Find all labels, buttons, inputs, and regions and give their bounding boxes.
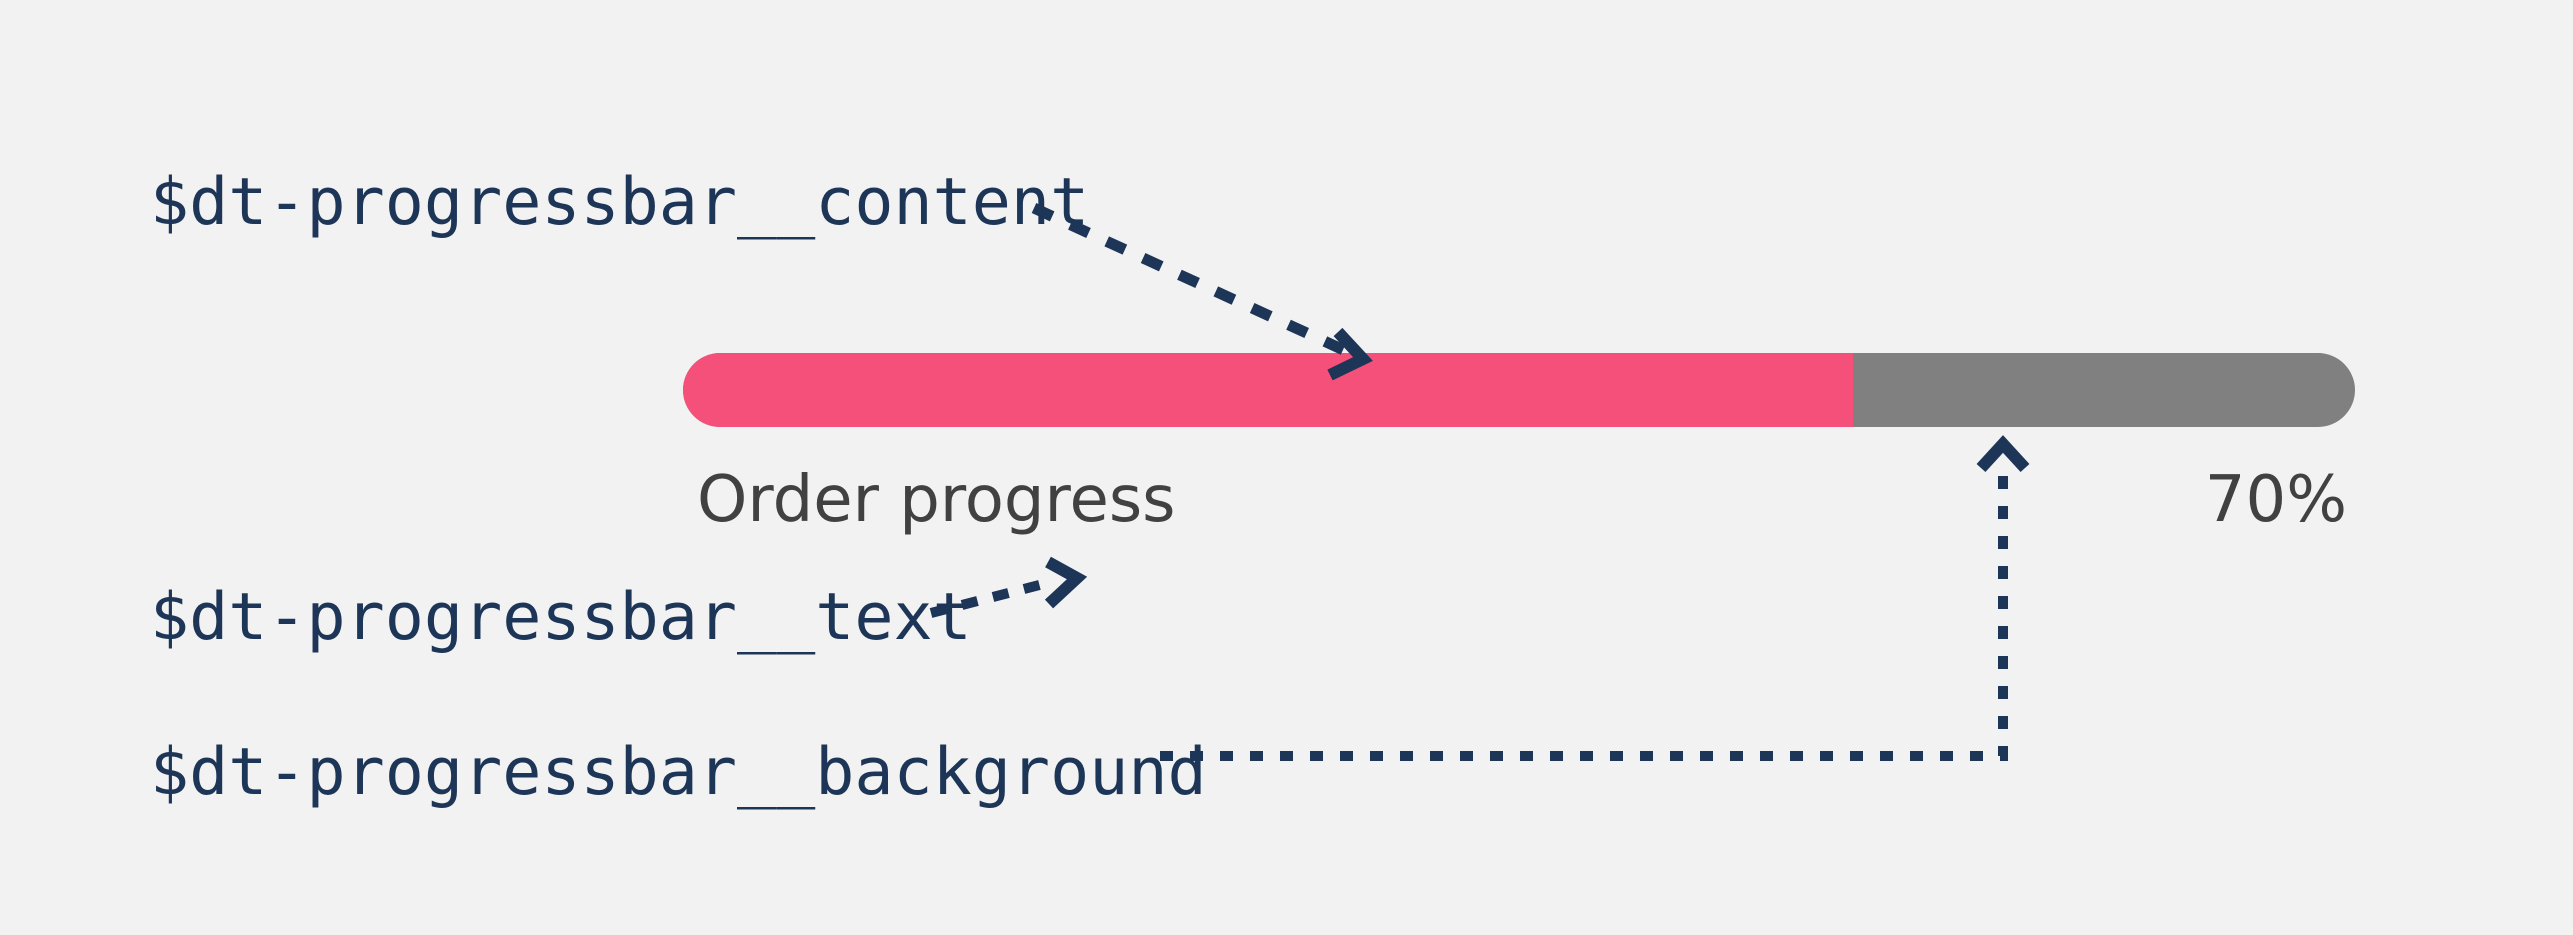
annotation-diagram-canvas: Order progress 70% $dt-progressbar__cont…	[0, 0, 2573, 935]
annotation-label-text: $dt-progressbar__text	[150, 585, 972, 650]
progressbar-text-label: Order progress	[697, 468, 1176, 532]
progressbar-component[interactable]	[683, 353, 2355, 427]
annotation-label-background: $dt-progressbar__background	[150, 740, 1207, 805]
annotation-label-content: $dt-progressbar__content	[150, 170, 1089, 235]
progressbar-content-fill	[683, 353, 1853, 427]
progressbar-percent-label: 70%	[2205, 468, 2347, 532]
progressbar-caption-row: Order progress 70%	[683, 455, 2355, 545]
